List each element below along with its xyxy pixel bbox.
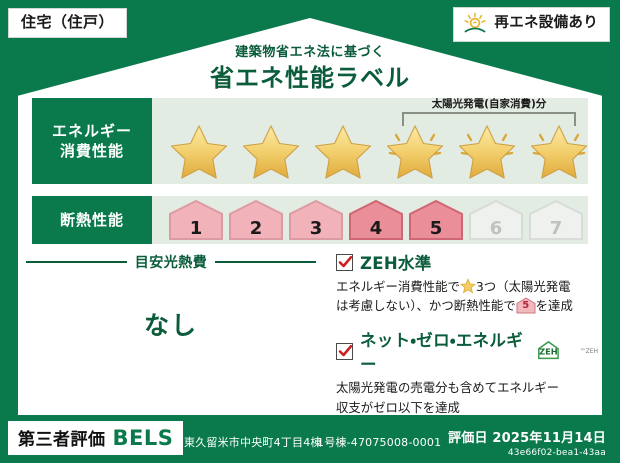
zeh-logo-trademark: ™ZEH — [580, 348, 598, 355]
category-chip: 住宅（住戸） — [8, 8, 127, 38]
svg-text:ZEH: ZEH — [539, 347, 558, 357]
insulation-grade-value: 6 — [468, 220, 524, 238]
energy-label-line2: 消費性能 — [60, 141, 124, 161]
energy-performance-label: エネルギー 消費性能 — [32, 98, 152, 184]
criterion-net-zero-text: 太陽光発電の売電分も含めてエネルギー収支がゼロ以下を達成 — [336, 378, 598, 416]
nze-text-b: 収支がゼロ以下を達成 — [336, 400, 460, 415]
criterion-zeh-level-text: エネルギー消費性能で3つ（太陽光発電は考慮しない）、かつ断熱性能で5を達成 — [336, 277, 598, 315]
insulation-performance-label: 断熱性能 — [32, 196, 152, 244]
footer-address: 東久留米市中央町4丁目4棟 — [184, 434, 322, 450]
zeh-text-d: を達成 — [536, 298, 573, 313]
inline-grade-value: 5 — [516, 298, 536, 314]
energy-performance-row: エネルギー 消費性能 太陽光発電(自家消費)分 — [32, 98, 588, 184]
star-icon-solar — [526, 119, 592, 179]
sun-icon — [462, 12, 488, 36]
zeh-text-a: エネルギー消費性能で — [336, 279, 460, 294]
star-icon — [166, 119, 232, 179]
insulation-grade-value: 4 — [348, 220, 404, 238]
inline-grade-badge: 5 — [516, 297, 536, 314]
insulation-grade-value: 7 — [528, 220, 584, 238]
footer-eval-date: 評価日 2025年11月14日 — [448, 427, 606, 446]
energy-label-card: 住宅（住戸） 再エネ設備あり 建築物省エネ法に基づく 省エネ性能ラベル — [0, 0, 620, 463]
star-icon — [310, 119, 376, 179]
footer-bar: 第三者評価 BELS 東久留米市中央町4丁目4棟 1号棟-47075008-00… — [0, 415, 620, 463]
insulation-grade-value: 1 — [168, 220, 224, 238]
insulation-grade-value: 3 — [288, 220, 344, 238]
star-icon — [238, 119, 304, 179]
zeh-logo-icon: ZEH — [536, 340, 573, 362]
bels-label-ja: 第三者評価 — [18, 425, 106, 450]
insulation-performance-row: 断熱性能 1 2 3 4 5 6 7 — [32, 196, 588, 244]
checkbox-checked-icon — [336, 254, 353, 271]
insulation-grade-value: 5 — [408, 220, 464, 238]
rule-right — [215, 261, 316, 263]
criterion-net-zero-energy: ネット・ゼロ・エネルギー ZEH ™ZEH 太陽光発電の売電分も含めてエネルギー… — [336, 327, 598, 416]
zeh-text-b: 3つ（太陽光発電 — [476, 279, 571, 294]
criterion-net-zero-head: ネット・ゼロ・エネルギー ZEH ™ZEH — [336, 327, 598, 375]
renewable-badge-label: 再エネ設備あり — [494, 16, 598, 32]
bels-label-en: BELS — [113, 426, 174, 450]
energy-performance-body: 太陽光発電(自家消費)分 — [152, 98, 588, 184]
star-icon — [460, 278, 476, 294]
solar-bracket-label: 太陽光発電(自家消費)分 — [402, 96, 576, 111]
rule-left — [26, 261, 127, 263]
utility-cost-value: なし — [26, 306, 316, 342]
utility-cost-title: 目安光熱費 — [26, 252, 316, 272]
criteria-block: ZEH水準 エネルギー消費性能で3つ（太陽光発電は考慮しない）、かつ断熱性能で5… — [336, 250, 598, 417]
insulation-grade-2: 2 — [228, 199, 284, 241]
renewable-equipment-badge: 再エネ設備あり — [453, 7, 610, 42]
nze-text-a: 太陽光発電の売電分も含めてエネルギー — [336, 380, 559, 395]
star-icon-solar — [454, 119, 520, 179]
insulation-grade-value: 2 — [228, 220, 284, 238]
insulation-grade-4: 4 — [348, 199, 404, 241]
footer-building-id: 1号棟-47075008-0001 — [317, 434, 441, 450]
energy-label-line1: エネルギー — [52, 121, 132, 141]
bels-certification-chip: 第三者評価 BELS — [8, 421, 183, 455]
star-icon-solar — [382, 119, 448, 179]
criterion-zeh-level: ZEH水準 エネルギー消費性能で3つ（太陽光発電は考慮しない）、かつ断熱性能で5… — [336, 250, 598, 315]
utility-cost-block: 目安光熱費 なし — [26, 252, 316, 342]
criterion-zeh-level-head: ZEH水準 — [336, 250, 598, 274]
insulation-label-text: 断熱性能 — [60, 210, 124, 230]
zeh-text-c: は考慮しない）、かつ断熱性能で — [336, 298, 516, 313]
footer-hash: 43e66f02-bea1-43aa — [448, 448, 606, 458]
utility-cost-title-text: 目安光熱費 — [135, 252, 208, 272]
criterion-net-zero-title: ネット・ゼロ・エネルギー — [360, 327, 526, 375]
label-title: 省エネ性能ラベル — [0, 58, 620, 93]
insulation-performance-body: 1 2 3 4 5 6 7 — [152, 196, 588, 244]
insulation-grade-6: 6 — [468, 199, 524, 241]
energy-star-rating — [166, 118, 580, 180]
insulation-grade-7: 7 — [528, 199, 584, 241]
criterion-zeh-level-title: ZEH水準 — [360, 250, 432, 274]
checkbox-checked-icon — [336, 343, 353, 360]
insulation-grade-1: 1 — [168, 199, 224, 241]
footer-evaluation-info: 評価日 2025年11月14日 43e66f02-bea1-43aa — [448, 427, 606, 458]
insulation-grade-5: 5 — [408, 199, 464, 241]
insulation-grade-scale: 1 2 3 4 5 6 7 — [168, 199, 584, 241]
insulation-grade-3: 3 — [288, 199, 344, 241]
